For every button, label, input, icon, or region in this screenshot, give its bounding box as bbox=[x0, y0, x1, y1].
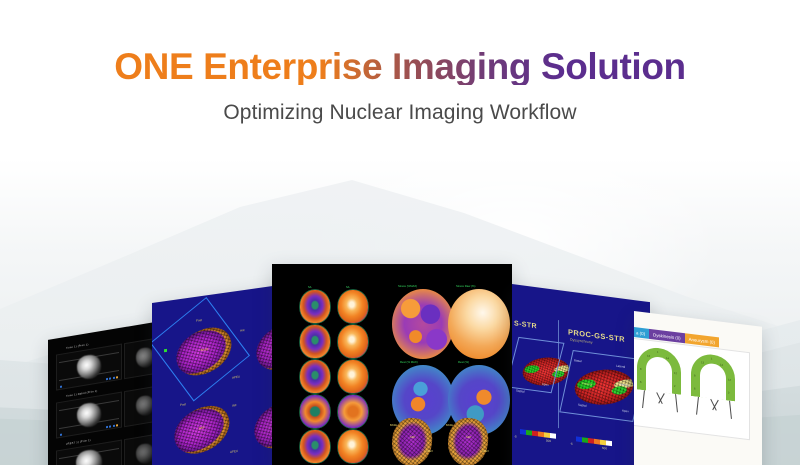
mesh-label: APEX bbox=[426, 450, 433, 453]
small-heart-mesh bbox=[448, 418, 488, 465]
perfusion-slice bbox=[338, 395, 368, 428]
perfusion-slice bbox=[300, 430, 330, 463]
perfusion-slice bbox=[338, 430, 368, 463]
mesh-label: INF bbox=[232, 403, 237, 408]
panel-partial-title: S-STR bbox=[514, 320, 537, 330]
mesh-label: Ant bbox=[240, 328, 245, 333]
polar-map-label: Stress (%MAX) bbox=[398, 284, 417, 288]
heart-mesh: BASE bbox=[176, 326, 232, 378]
colorbar bbox=[520, 429, 556, 439]
mesh-label: APEX bbox=[232, 375, 240, 380]
page-subtitle: Optimizing Nuclear Imaging Workflow bbox=[0, 101, 800, 125]
scan-image-main bbox=[56, 392, 122, 439]
mesh-label: Basal bbox=[574, 358, 582, 363]
panel-mesh-navy-left[interactable]: BASE Post Ant APEX SEP Post INF APEX BAS… bbox=[152, 284, 287, 465]
small-heart-mesh bbox=[392, 418, 432, 465]
polar-map bbox=[448, 289, 510, 359]
polar-map-label: Stress Raw (%) bbox=[456, 284, 475, 288]
colorbar-min-label: -5 bbox=[514, 434, 517, 438]
perfusion-slice bbox=[338, 325, 368, 358]
colorbar-max-label: 500 bbox=[546, 438, 551, 443]
perfusion-slice bbox=[300, 360, 330, 393]
mesh-label: BASE bbox=[446, 424, 453, 427]
panel-wall-motion[interactable]: a (0) Dyskinesis (0) Aneurysm (0) 1 13 1… bbox=[634, 311, 762, 465]
mesh-label: Apex bbox=[542, 382, 549, 387]
perfusion-slice bbox=[300, 395, 330, 428]
perfusion-slice bbox=[338, 290, 368, 323]
wall-motion-diagram: 1 13 14 8 12 6 2 bbox=[637, 345, 681, 406]
page-title: ONE Enterprise Imaging Solution bbox=[114, 48, 685, 85]
polar-map-label: Rest (%) bbox=[458, 360, 469, 364]
polar-map bbox=[392, 289, 454, 359]
hero-header: ONE Enterprise Imaging Solution Optimizi… bbox=[0, 48, 800, 125]
wall-motion-card: 1 13 14 8 12 6 2 1 13 14 8 bbox=[634, 338, 750, 440]
mesh-label: BASE bbox=[390, 424, 397, 427]
panel-dyssynchrony[interactable]: S-STR Septal Apex PROC-GS-STR Dyssynchro… bbox=[512, 284, 650, 465]
tab-akinesis[interactable]: a (0) bbox=[634, 327, 649, 339]
panel-fan: Tomo 1) (Prim 1) Tomo 1) Gated (Prim 1) bbox=[0, 235, 800, 465]
origin-marker bbox=[164, 349, 167, 352]
perfusion-slice bbox=[338, 360, 368, 393]
mesh-label: Post bbox=[196, 318, 202, 323]
polar-map-label: Rest (% MAX) bbox=[400, 360, 418, 364]
perfusion-slice bbox=[300, 290, 330, 323]
mesh-label: SEP bbox=[466, 436, 471, 439]
slice-label: SA bbox=[346, 286, 349, 289]
mesh-label: APEX bbox=[482, 450, 489, 453]
hero-stage: ONE Enterprise Imaging Solution Optimizi… bbox=[0, 0, 800, 465]
mesh-label: Apex bbox=[622, 408, 629, 413]
panel-tomo-center[interactable]: SA SA Stress (%MAX) Stress Raw (%) Rest … bbox=[272, 264, 512, 465]
colorbar bbox=[576, 436, 612, 446]
mesh-label: APEX bbox=[230, 449, 238, 454]
mesh-label: Septal bbox=[516, 389, 525, 394]
mesh-center-label: SEP bbox=[199, 426, 205, 431]
wall-motion-diagram: 1 13 14 8 12 6 2 bbox=[691, 352, 735, 413]
mesh-label: SEP bbox=[410, 436, 415, 439]
colorbar-max-label: 500 bbox=[602, 446, 607, 451]
heart-mesh: SEP bbox=[174, 404, 230, 456]
mesh-label: Post bbox=[180, 402, 186, 407]
colorbar-min-label: -5 bbox=[570, 442, 573, 446]
perfusion-slice bbox=[300, 325, 330, 358]
slice-label: SA bbox=[308, 286, 311, 289]
scan-image-main bbox=[56, 344, 122, 391]
